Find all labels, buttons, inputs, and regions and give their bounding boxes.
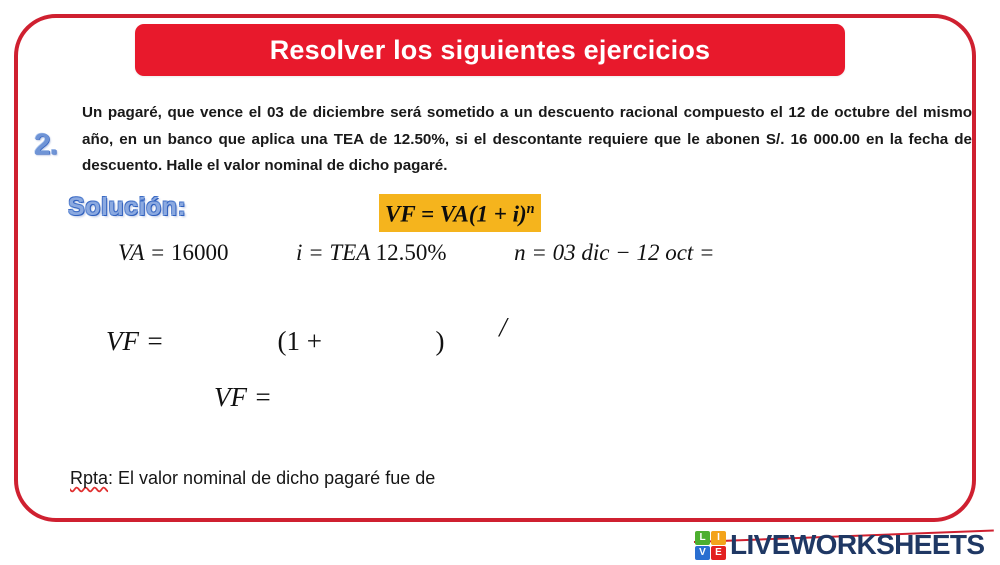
solution-heading: Solución: <box>68 193 186 222</box>
given-n-label: n = <box>514 240 553 265</box>
given-i: i = TEA 12.50% <box>296 240 447 266</box>
vf-row1-close-paren: ) <box>435 326 444 356</box>
problem-statement: Un pagaré, que vence el 03 de diciembre … <box>82 100 972 180</box>
formula-base: VF = VA(1 + i) <box>385 202 527 227</box>
answer-text: : El valor nominal de dicho pagaré fue d… <box>108 468 435 488</box>
given-va-value: 16000 <box>171 240 229 265</box>
vf-working-row-1: VF = (1 + ) / <box>106 326 806 357</box>
red-rounded-frame <box>14 14 976 522</box>
title-banner: Resolver los siguientes ejercicios <box>135 24 845 76</box>
logo-tile-v: V <box>695 546 710 560</box>
given-n: n = 03 dic − 12 oct = <box>514 240 715 266</box>
logo-tiles: L I V E <box>694 530 728 560</box>
logo-tile-e: E <box>711 546 726 560</box>
logo-tile-i: I <box>711 531 726 545</box>
worksheet-page: Resolver los siguientes ejercicios 2. Un… <box>0 0 1000 565</box>
given-values-row: VA = 16000 i = TEA 12.50% n = 03 dic − 1… <box>118 240 918 266</box>
given-n-value: 03 dic − 12 oct = <box>553 240 715 265</box>
given-va-label: VA = <box>118 240 171 265</box>
vf-row2-lhs: VF = <box>214 382 272 412</box>
given-i-value: 12.50% <box>376 240 447 265</box>
vf-row1-slash: / <box>499 312 507 343</box>
logo-wordmark: LIVEWORKSHEETS <box>730 529 985 561</box>
liveworksheets-logo[interactable]: L I V E LIVEWORKSHEETS <box>694 527 985 563</box>
answer-line: Rpta: El valor nominal de dicho pagaré f… <box>70 468 435 489</box>
highlighted-formula: VF = VA(1 + i)n <box>379 194 541 232</box>
formula-exponent: n <box>527 201 535 217</box>
vf-row1-open-paren: (1 + <box>277 326 321 356</box>
vf-row1-lhs: VF = <box>106 326 164 356</box>
page-title: Resolver los siguientes ejercicios <box>270 35 711 66</box>
given-i-label: i = TEA <box>296 240 376 265</box>
vf-working-row-2: VF = <box>214 382 272 413</box>
answer-prefix: Rpta <box>70 468 108 488</box>
question-number: 2. <box>34 128 57 162</box>
logo-tile-l: L <box>695 531 710 545</box>
given-va: VA = 16000 <box>118 240 229 266</box>
